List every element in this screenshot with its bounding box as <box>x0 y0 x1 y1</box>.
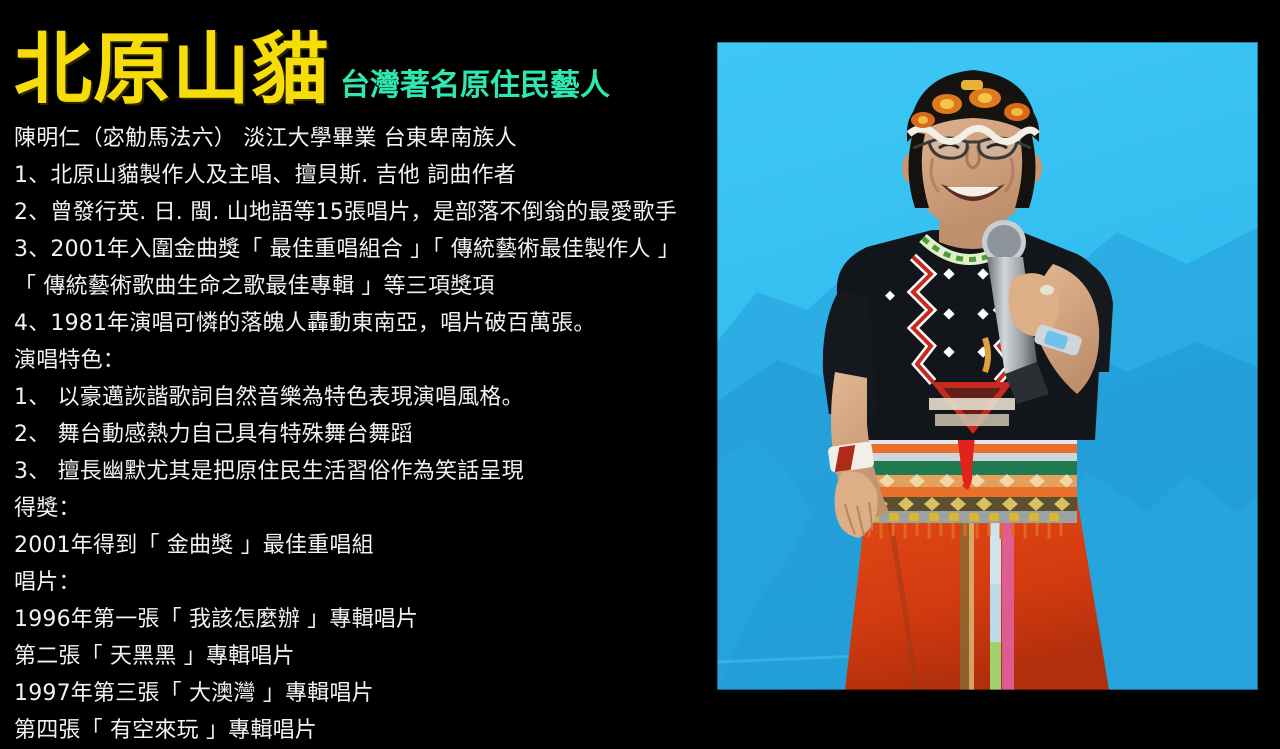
page-subtitle: 台灣著名原住民藝人 <box>340 70 610 102</box>
bio-line: 1996年第一張「 我該怎麼辦 」專輯唱片 <box>14 601 714 638</box>
bio-line: 1、北原山貓製作人及主唱、擅貝斯. 吉他 詞曲作者 <box>14 157 714 194</box>
bio-line: 2、 舞台動感熱力自己具有特殊舞台舞蹈 <box>14 416 714 453</box>
biography-lines: 陳明仁（宓觔馬法六） 淡江大學畢業 台東卑南族人 1、北原山貓製作人及主唱、擅貝… <box>14 120 714 749</box>
poster-root: 北原山貓 台灣著名原住民藝人 陳明仁（宓觔馬法六） 淡江大學畢業 台東卑南族人 … <box>0 0 1280 729</box>
skirt-band-gold <box>969 520 974 690</box>
bio-line: 得獎： <box>14 490 714 527</box>
finger-ring <box>1040 285 1054 295</box>
bio-line: 唱片： <box>14 564 714 601</box>
title-row: 北原山貓 台灣著名原住民藝人 <box>14 18 714 110</box>
bio-line: 第二張「 天黑黑 」專輯唱片 <box>14 638 714 675</box>
performer-photo <box>717 42 1258 690</box>
bio-line: 1997年第三張「 大澳灣 」專輯唱片 <box>14 675 714 712</box>
skirt-band-brown <box>960 520 969 690</box>
bio-line: 第四張「 有空來玩 」專輯唱片 <box>14 712 714 749</box>
skirt-band-pink <box>1002 520 1014 690</box>
chest-ornament-strip <box>929 398 1015 410</box>
bio-line: 「 傳統藝術歌曲生命之歌最佳專輯 」等三項獎項 <box>14 268 714 305</box>
bio-line: 1、 以豪邁詼諧歌詞自然音樂為特色表現演唱風格。 <box>14 379 714 416</box>
performer-photo-illustration <box>717 42 1258 690</box>
skirt-band-white-upper <box>990 520 1001 584</box>
info-text-column: 北原山貓 台灣著名原住民藝人 陳明仁（宓觔馬法六） 淡江大學畢業 台東卑南族人 … <box>14 18 714 749</box>
chest-tassel <box>985 338 988 372</box>
bio-line: 3、 擅長幽默尤其是把原住民生活習俗作為笑話呈現 <box>14 453 714 490</box>
bio-line: 4、1981年演唱可憐的落魄人轟動東南亞，唱片破百萬張。 <box>14 305 714 342</box>
bio-line: 2001年得到「 金曲獎 」最佳重唱組 <box>14 527 714 564</box>
skirt-band-green <box>990 642 1001 690</box>
page-title: 北原山貓 <box>14 30 330 110</box>
skirt-band-white-mid <box>990 584 1001 642</box>
bio-line: 演唱特色： <box>14 342 714 379</box>
bio-line: 2、曾發行英. 日. 閩. 山地語等15張唱片，是部落不倒翁的最愛歌手 <box>14 194 714 231</box>
bio-line: 陳明仁（宓觔馬法六） 淡江大學畢業 台東卑南族人 <box>14 120 714 157</box>
bio-line: 3、2001年入圍金曲獎「 最佳重唱組合 」「 傳統藝術最佳製作人 」 <box>14 231 714 268</box>
